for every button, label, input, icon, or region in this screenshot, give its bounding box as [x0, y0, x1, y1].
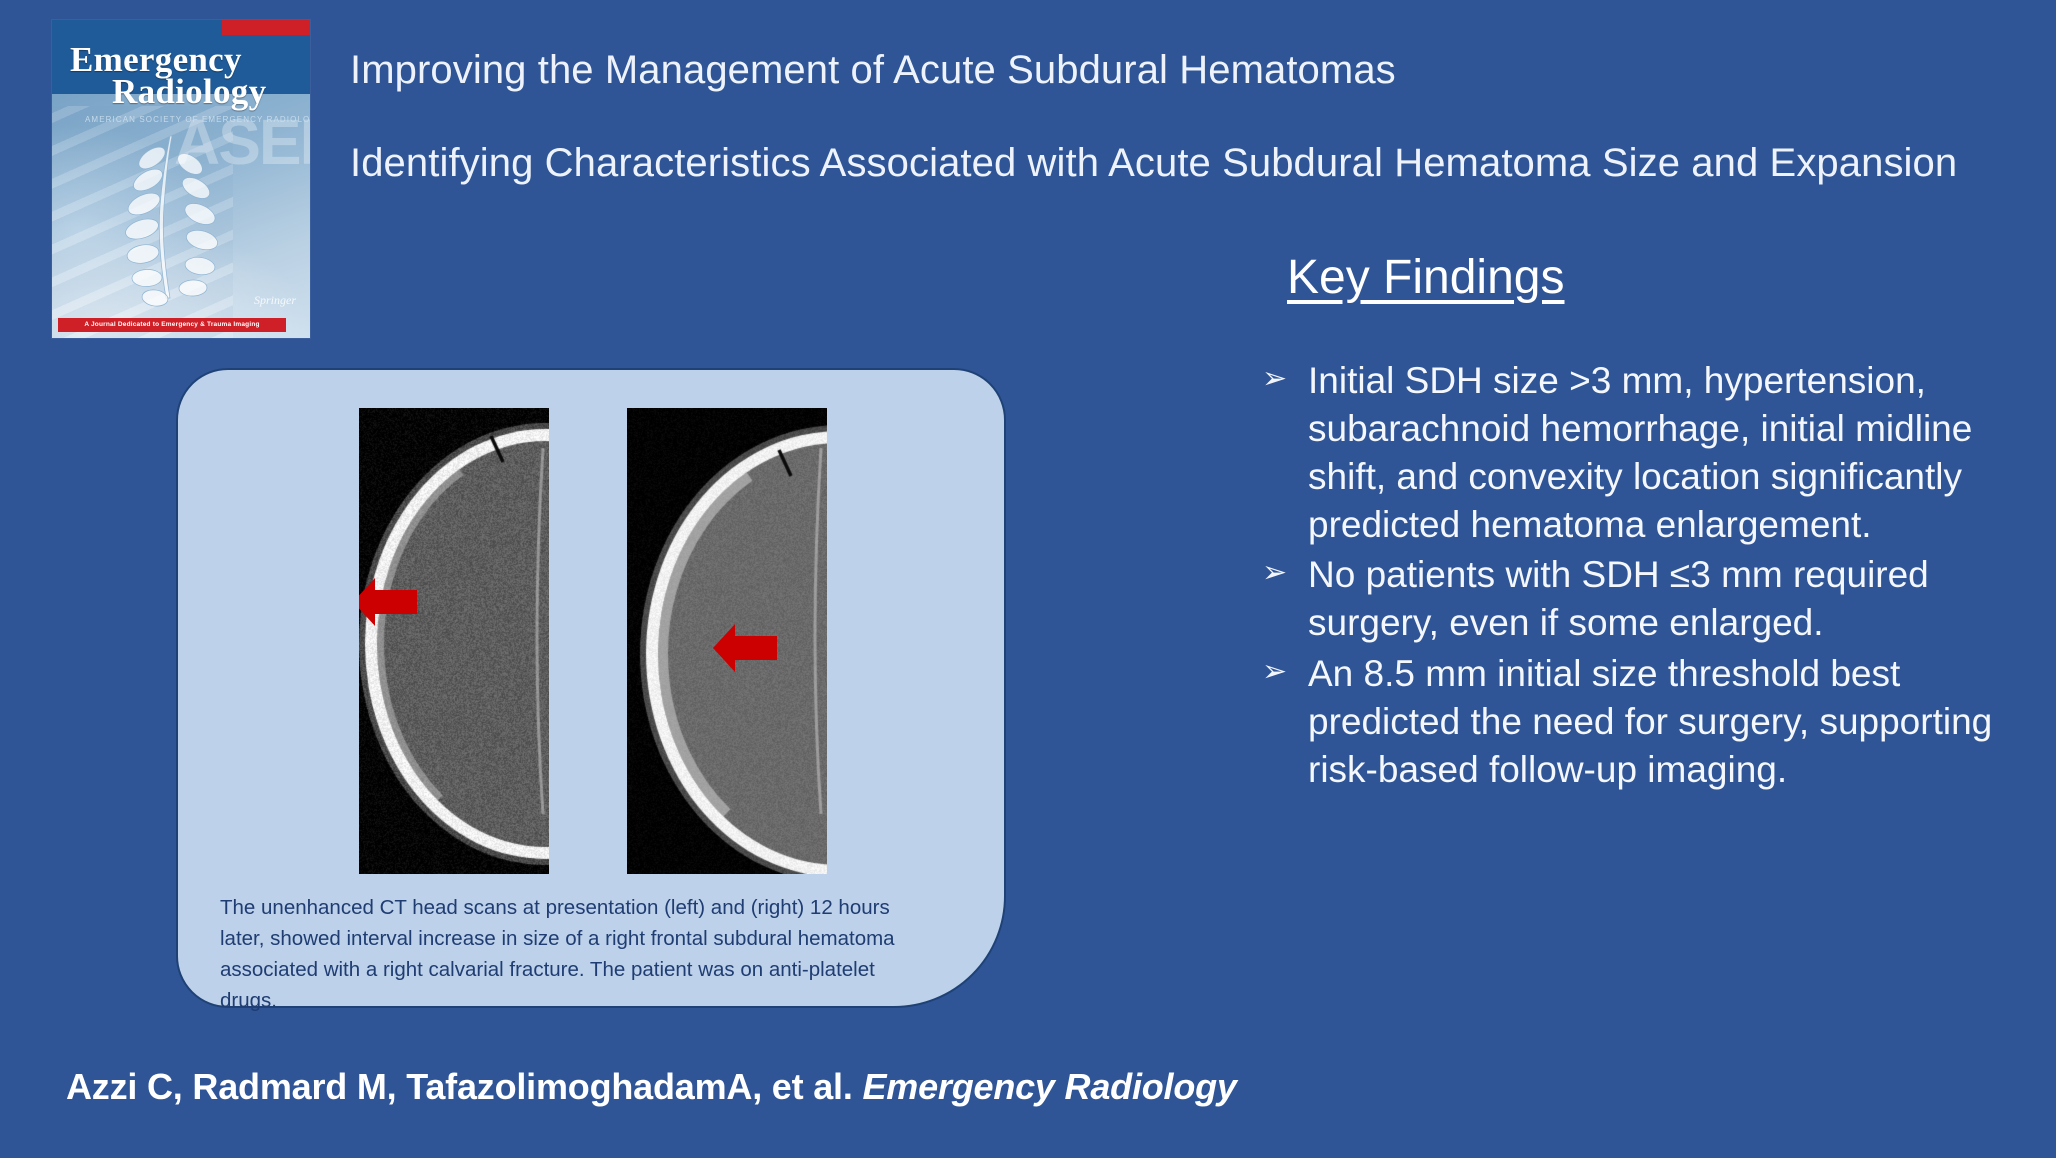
key-findings-section: Key Findings ➢ Initial SDH size >3 mm, h…: [1262, 250, 2052, 796]
key-findings-heading: Key Findings: [1287, 250, 2052, 305]
arrow-bullet-icon: ➢: [1262, 650, 1308, 692]
ct-scan-left-canvas: [359, 408, 549, 874]
key-finding-text: No patients with SDH ≤3 mm required surg…: [1308, 551, 2052, 647]
arrow-bullet-icon: ➢: [1262, 551, 1308, 593]
slide-title-line2: Identifying Characteristics Associated w…: [350, 139, 2020, 188]
citation-line: Azzi C, Radmard M, TafazolimoghadamA, et…: [66, 1066, 1237, 1108]
ct-image-left: [359, 408, 549, 874]
key-finding-text: Initial SDH size >3 mm, hypertension, su…: [1308, 357, 2052, 549]
red-arrow-icon-left: [359, 576, 417, 628]
arrow-bullet-icon: ➢: [1262, 357, 1308, 399]
red-arrow-icon-right: [711, 622, 777, 674]
citation-journal: Emergency Radiology: [862, 1066, 1236, 1107]
ct-image-right: [627, 408, 827, 874]
slide-title-line1: Improving the Management of Acute Subdur…: [350, 46, 2020, 95]
citation-authors: Azzi C, Radmard M, TafazolimoghadamA, et…: [66, 1066, 862, 1107]
springer-logo: Springer: [254, 293, 296, 308]
graphical-abstract-slide: ASER Emergency Radiology AMERICAN SOCIET…: [0, 0, 2056, 1158]
figure-panel: The unenhanced CT head scans at presenta…: [176, 368, 1006, 1008]
journal-cover-image: ASER Emergency Radiology AMERICAN SOCIET…: [52, 20, 310, 338]
key-finding-text: An 8.5 mm initial size threshold best pr…: [1308, 650, 2052, 794]
cover-subtitle: AMERICAN SOCIETY OF EMERGENCY RADIOLOGY: [85, 115, 310, 124]
figure-caption: The unenhanced CT head scans at presenta…: [220, 892, 920, 1017]
key-finding-item: ➢ No patients with SDH ≤3 mm required su…: [1262, 551, 2052, 647]
cover-red-accent-bar: [222, 20, 310, 35]
cover-title-line2: Radiology: [112, 72, 266, 112]
header-titles: Improving the Management of Acute Subdur…: [350, 46, 2020, 188]
key-finding-item: ➢ Initial SDH size >3 mm, hypertension, …: [1262, 357, 2052, 549]
key-finding-item: ➢ An 8.5 mm initial size threshold best …: [1262, 650, 2052, 794]
cover-tagline-bar: A Journal Dedicated to Emergency & Traum…: [58, 318, 286, 332]
